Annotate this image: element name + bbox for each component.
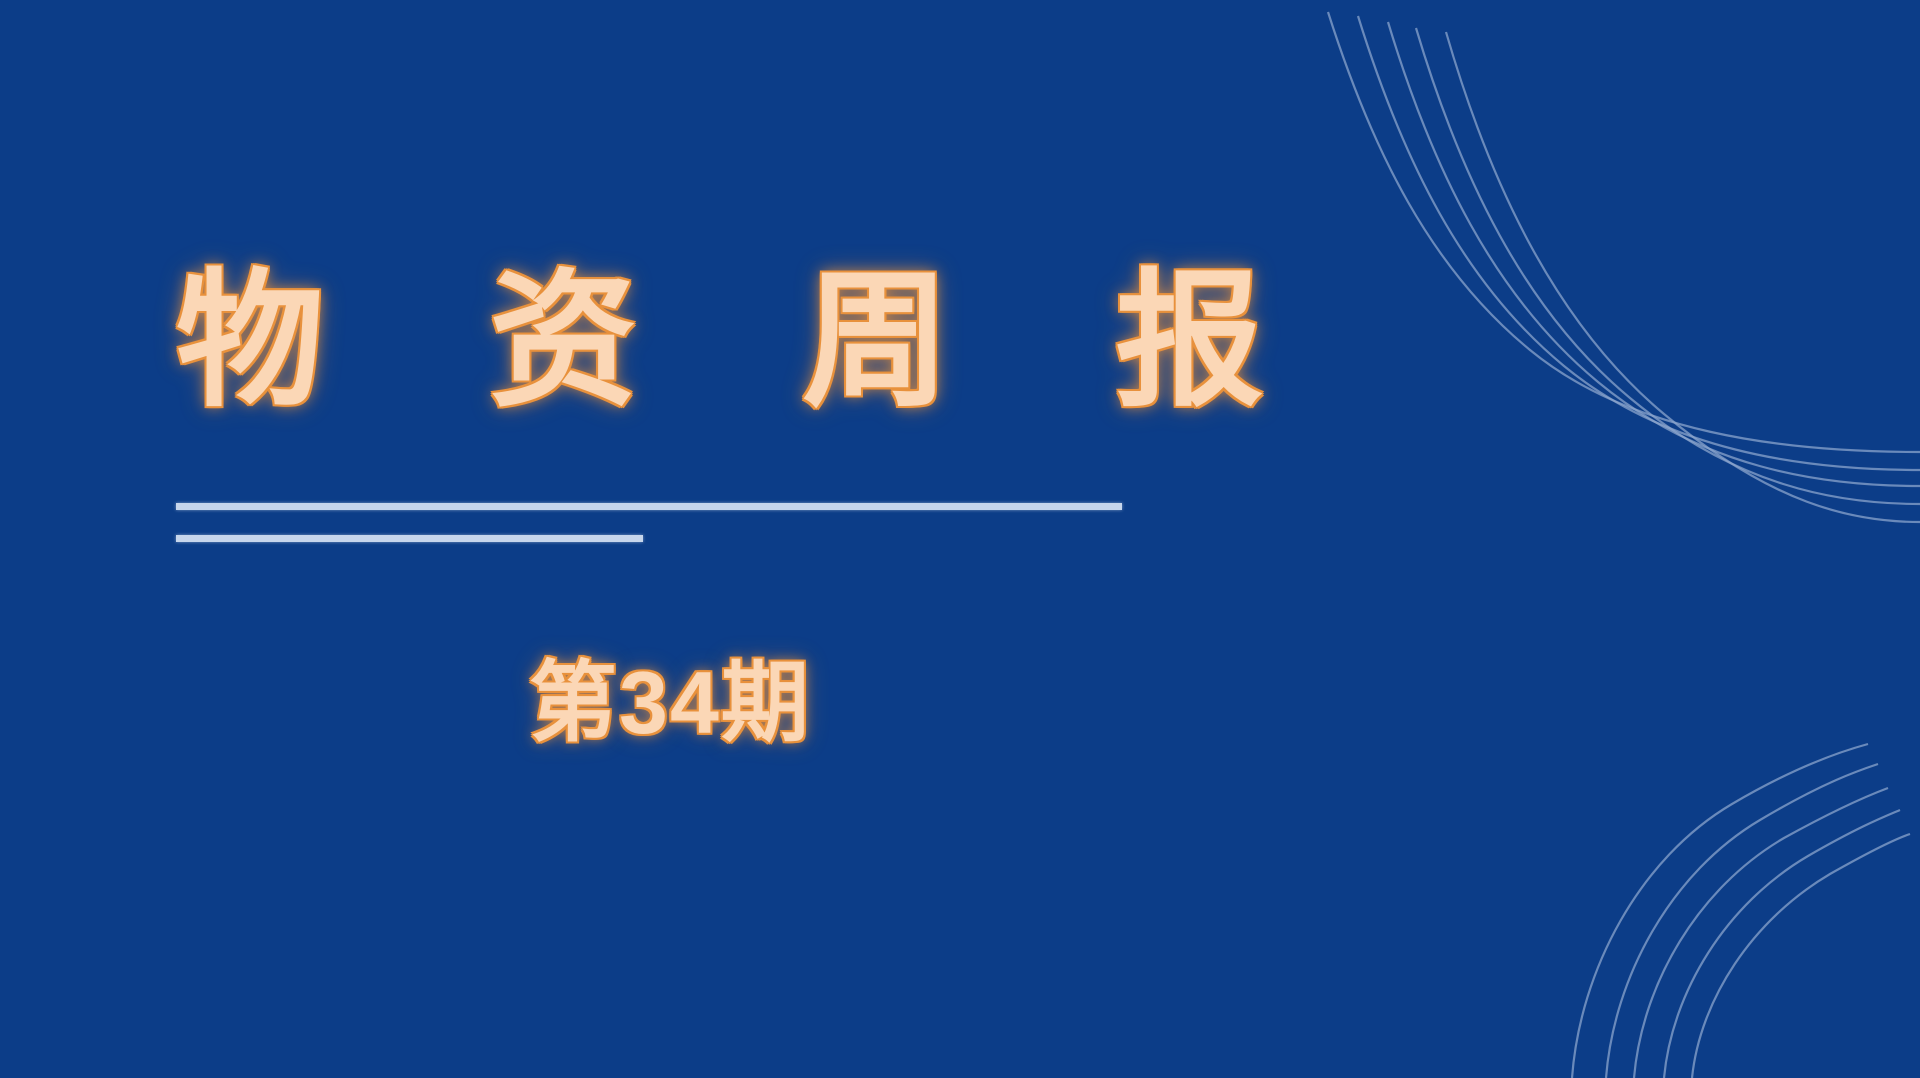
- presentation-title-slide: 物 资 周 报 第34期: [0, 0, 1920, 1078]
- flowing-lines-top-right-decoration: [1280, 0, 1920, 560]
- page-title: 物 资 周 报: [176, 268, 1176, 416]
- flowing-lines-bottom-right-decoration: [1280, 598, 1920, 1078]
- title-underline-long: [176, 503, 1122, 510]
- issue-subtitle: 第34期: [0, 652, 1340, 753]
- title-underline-short: [176, 535, 643, 542]
- title-block: 物 资 周 报: [176, 268, 1176, 416]
